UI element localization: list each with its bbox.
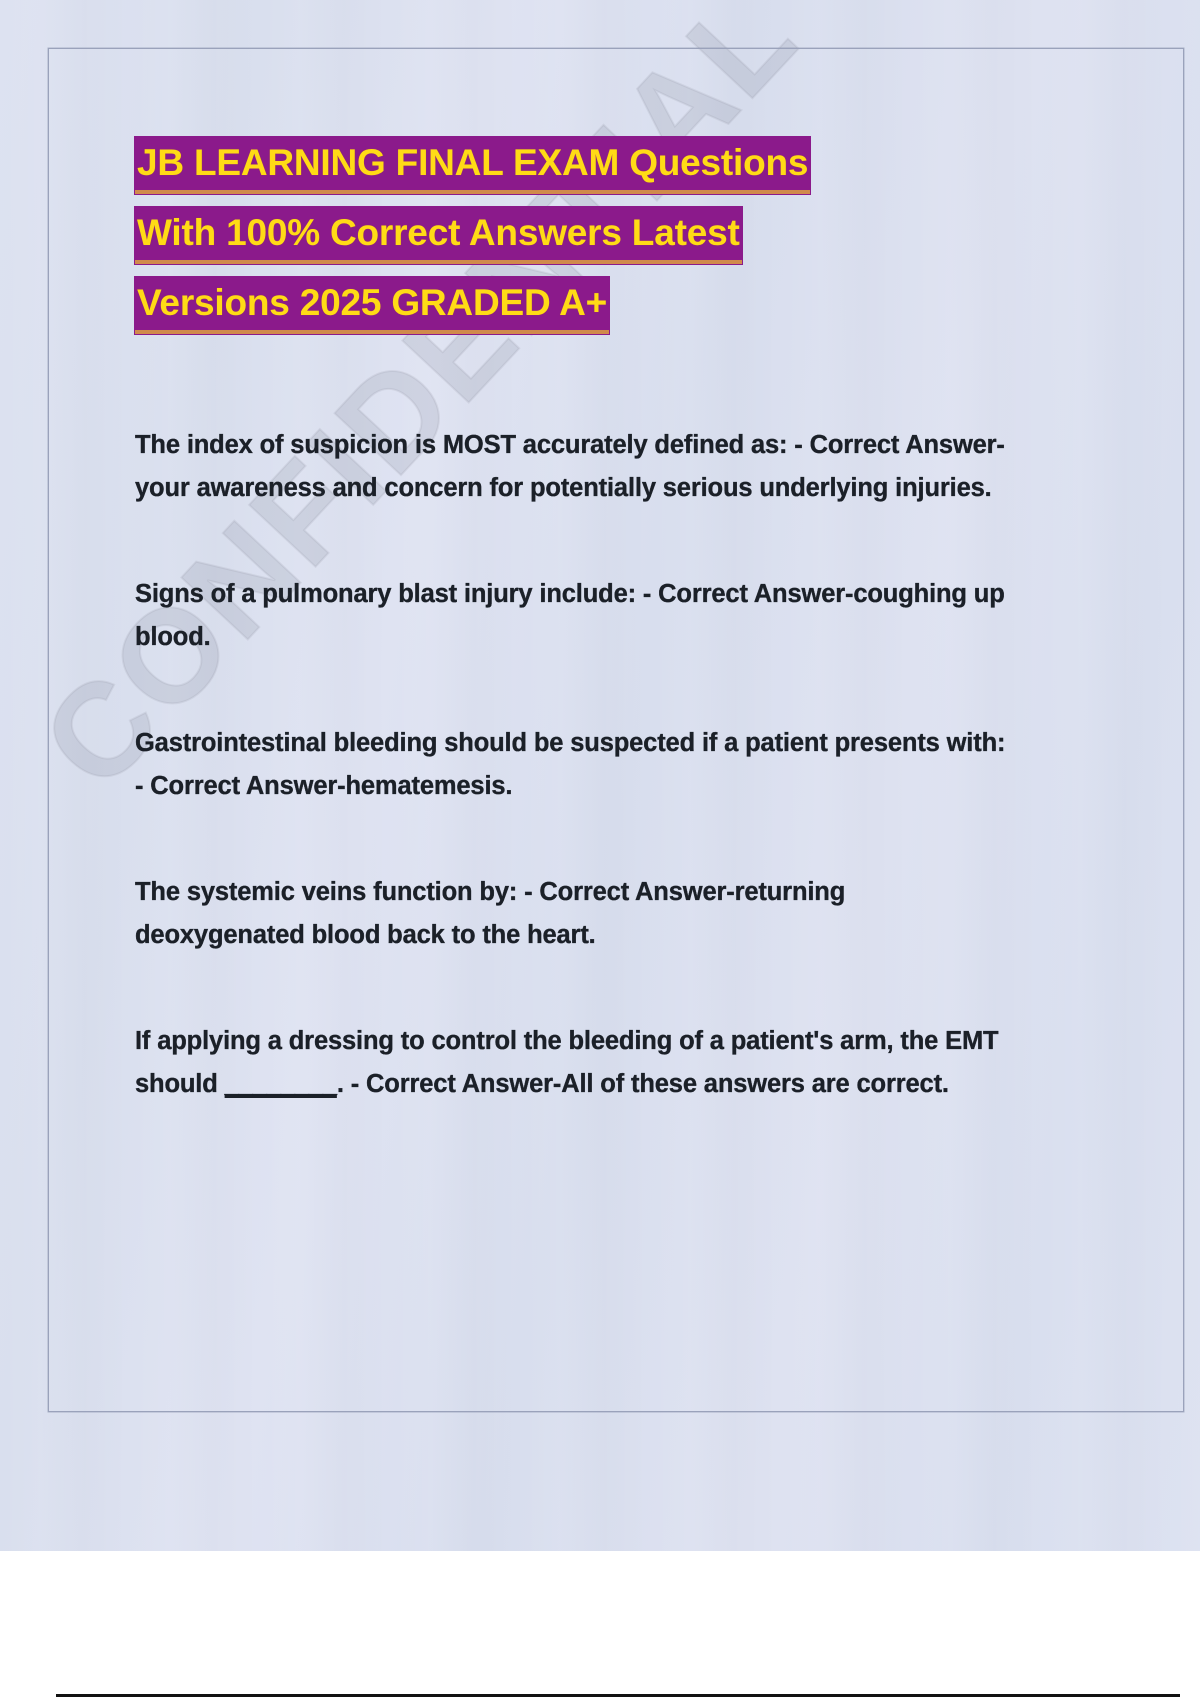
qa-item: Gastrointestinal bleeding should be susp… [135, 722, 1015, 808]
qa-list: The index of suspicion is MOST accuratel… [135, 424, 1035, 1106]
title-line-3: Versions 2025 GRADED A+ [135, 268, 935, 338]
qa-separator: - Correct Answer- [344, 1070, 561, 1098]
footer-divider [56, 1694, 1180, 1697]
paragraph-spacer [135, 957, 1035, 1020]
title-line-1: JB LEARNING FINAL EXAM Questions [135, 128, 935, 198]
qa-item: The index of suspicion is MOST accuratel… [135, 424, 1015, 510]
title-line-2: With 100% Correct Answers Latest [135, 198, 935, 268]
qa-item: The systemic veins function by: - Correc… [135, 871, 1015, 957]
qa-item: Signs of a pulmonary blast injury includ… [135, 573, 1015, 659]
document-content: JB LEARNING FINAL EXAM Questions With 10… [135, 128, 1035, 1106]
paragraph-spacer [135, 659, 1035, 722]
document-page: CONFIDENTIAL JB LEARNING FINAL EXAM Ques… [0, 0, 1200, 1551]
qa-question-suffix: . [337, 1070, 344, 1098]
page-title: JB LEARNING FINAL EXAM Questions With 10… [135, 128, 935, 338]
qa-answer: All of these answers are correct. [561, 1070, 949, 1098]
qa-item-with-blank: If applying a dressing to control the bl… [135, 1020, 1015, 1106]
paragraph-spacer [135, 808, 1035, 871]
paragraph-spacer [135, 510, 1035, 573]
fill-in-blank: ________ [225, 1070, 337, 1098]
